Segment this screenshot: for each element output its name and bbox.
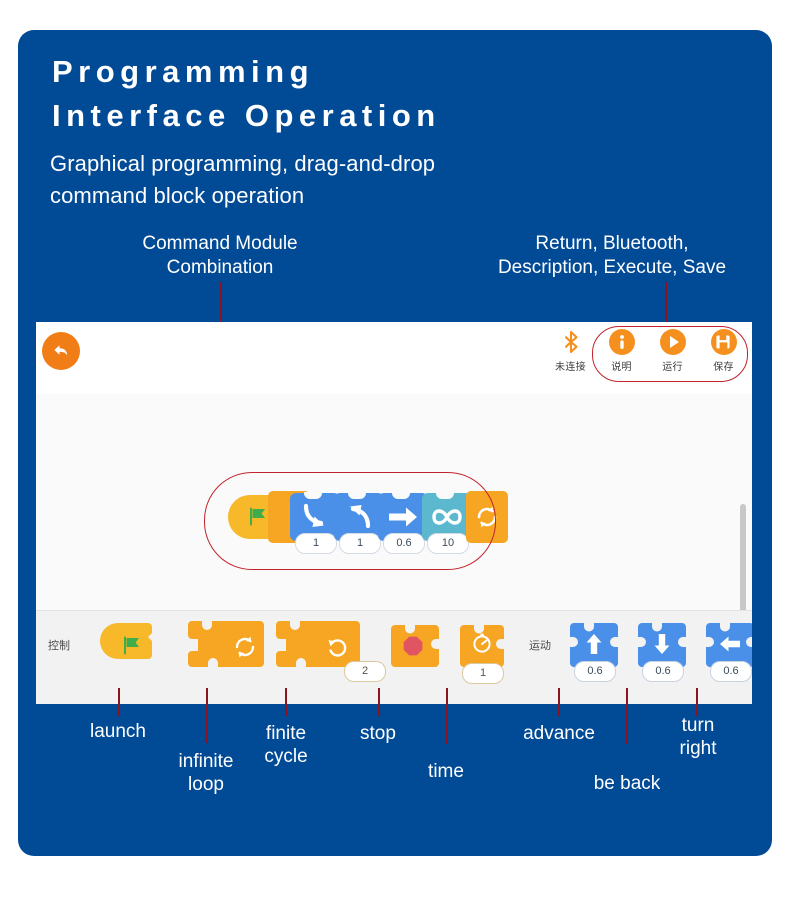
bluetooth-icon xyxy=(558,329,584,355)
stop-octagon-icon xyxy=(403,636,423,656)
palette-block-finite-cycle[interactable]: 2 xyxy=(276,621,360,671)
loop-repeat-icon xyxy=(232,634,258,660)
toolbar-label-bluetooth: 未连接 xyxy=(552,358,589,373)
callout-left-line-2: Combination xyxy=(95,256,345,280)
green-flag-icon xyxy=(121,635,143,657)
arrow-down-icon xyxy=(653,633,671,655)
poster-stage: Programming Interface Operation Graphica… xyxy=(0,0,790,905)
palette-block-value-turn-right[interactable]: 0.6 xyxy=(710,661,752,682)
palette-block-advance[interactable]: 0.6 xyxy=(570,623,618,667)
leader-line-turn-right xyxy=(696,688,698,716)
palette-block-be-back[interactable]: 0.6 xyxy=(638,623,686,667)
caption-advance: advance xyxy=(496,722,622,745)
subtitle-line-1: Graphical programming, drag-and-drop xyxy=(50,148,610,180)
palette-block-stop[interactable] xyxy=(391,625,439,667)
caption-finite-cycle-line-1: finite xyxy=(240,722,332,745)
callout-command-module: Command Module Combination xyxy=(95,232,345,280)
leader-line-be-back xyxy=(626,688,628,744)
leader-line-time xyxy=(446,688,448,744)
leader-line-right-vertical xyxy=(665,282,667,326)
caption-be-back: be back xyxy=(566,772,688,795)
highlight-block-stack xyxy=(204,472,496,570)
palette-block-turn-right[interactable]: 0.6 xyxy=(706,623,752,667)
cycle-back-arrow-icon xyxy=(326,635,350,659)
block-palette: 控制 xyxy=(36,610,752,704)
arrow-up-icon xyxy=(585,633,603,655)
palette-block-value-time[interactable]: 1 xyxy=(462,663,504,684)
leader-line-infinite-loop xyxy=(206,688,208,743)
palette-block-time[interactable]: 1 xyxy=(460,625,504,667)
leader-line-stop xyxy=(378,688,380,716)
caption-finite-cycle-line-2: cycle xyxy=(240,745,332,768)
title-line-2: Interface Operation xyxy=(52,94,732,138)
palette-block-infinite-loop[interactable] xyxy=(188,621,264,671)
callout-right-line-2: Description, Execute, Save xyxy=(452,256,772,280)
toolbar-item-bluetooth[interactable]: 未连接 xyxy=(552,329,589,373)
palette-group-label-motion: 运动 xyxy=(529,637,551,653)
palette-block-value-be-back[interactable]: 0.6 xyxy=(642,661,684,682)
title-line-1: Programming xyxy=(52,54,314,89)
callout-right-line-1: Return, Bluetooth, xyxy=(452,232,772,256)
caption-turn-right-line-1: turn xyxy=(652,714,744,737)
callout-left-line-1: Command Module xyxy=(95,232,345,256)
caption-stop: stop xyxy=(334,722,422,745)
palette-block-value-advance[interactable]: 0.6 xyxy=(574,661,616,682)
arrow-left-icon xyxy=(719,635,741,653)
caption-infinite-loop-line-2: loop xyxy=(156,773,256,796)
palette-block-launch[interactable] xyxy=(104,623,160,669)
caption-launch: launch xyxy=(68,720,168,743)
caption-finite-cycle: finite cycle xyxy=(240,722,332,768)
subtitle-line-2: command block operation xyxy=(50,180,610,212)
caption-turn-right: turn right xyxy=(652,714,744,760)
leader-line-launch xyxy=(118,688,120,716)
return-button[interactable] xyxy=(42,332,80,370)
callout-toolbar-functions: Return, Bluetooth, Description, Execute,… xyxy=(452,232,772,280)
caption-time: time xyxy=(400,760,492,783)
palette-group-label-control: 控制 xyxy=(48,637,70,653)
page-title: Programming Interface Operation xyxy=(52,50,732,138)
undo-arrow-icon xyxy=(51,341,71,361)
timer-icon xyxy=(471,633,493,655)
caption-turn-right-line-2: right xyxy=(652,737,744,760)
leader-line-finite-cycle xyxy=(285,688,287,716)
palette-block-value-finite-cycle[interactable]: 2 xyxy=(344,661,386,682)
page-subtitle: Graphical programming, drag-and-drop com… xyxy=(50,148,610,212)
highlight-toolbar xyxy=(592,326,748,382)
leader-line-advance xyxy=(558,688,560,716)
